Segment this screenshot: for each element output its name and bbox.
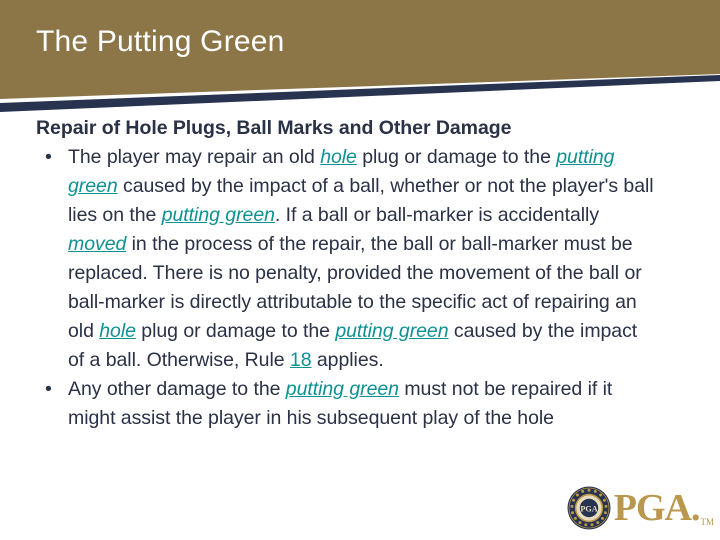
bullet-list: •The player may repair an old hole plug …	[36, 143, 656, 433]
content-link[interactable]: 18	[290, 349, 312, 371]
header-banner: The Putting Green	[0, 0, 720, 112]
list-item: •The player may repair an old hole plug …	[36, 143, 656, 375]
content-text: . If a ball or ball-marker is accidental…	[275, 204, 599, 226]
content-text: applies.	[312, 349, 384, 371]
slide-canvas: The Putting Green Repair of Hole Plugs, …	[0, 0, 720, 540]
content-link[interactable]: moved	[68, 233, 126, 255]
content-body: Repair of Hole Plugs, Ball Marks and Oth…	[36, 114, 656, 433]
pga-wordmark: PGA.	[614, 489, 700, 527]
list-item: •Any other damage to the putting green m…	[36, 375, 656, 433]
content-text: plug or damage to the	[136, 320, 335, 342]
page-title: The Putting Green	[36, 24, 285, 60]
pga-trademark: TM	[701, 517, 715, 534]
bullet-dot-icon: •	[45, 143, 52, 172]
pga-seal-text: PGA	[580, 504, 597, 513]
content-link[interactable]: putting green	[335, 320, 448, 342]
pga-logo: PGA PGA. TM	[567, 482, 714, 534]
content-text: plug or damage to the	[357, 146, 556, 168]
content-link[interactable]: hole	[99, 320, 136, 342]
pga-seal-icon: PGA	[567, 486, 611, 530]
content-link[interactable]: putting green	[286, 378, 399, 400]
content-link[interactable]: putting green	[162, 204, 275, 226]
content-link[interactable]: hole	[320, 146, 357, 168]
bullet-dot-icon: •	[45, 375, 52, 404]
content-text: Any other damage to the	[68, 378, 286, 400]
content-heading: Repair of Hole Plugs, Ball Marks and Oth…	[36, 114, 656, 143]
content-text: The player may repair an old	[68, 146, 320, 168]
